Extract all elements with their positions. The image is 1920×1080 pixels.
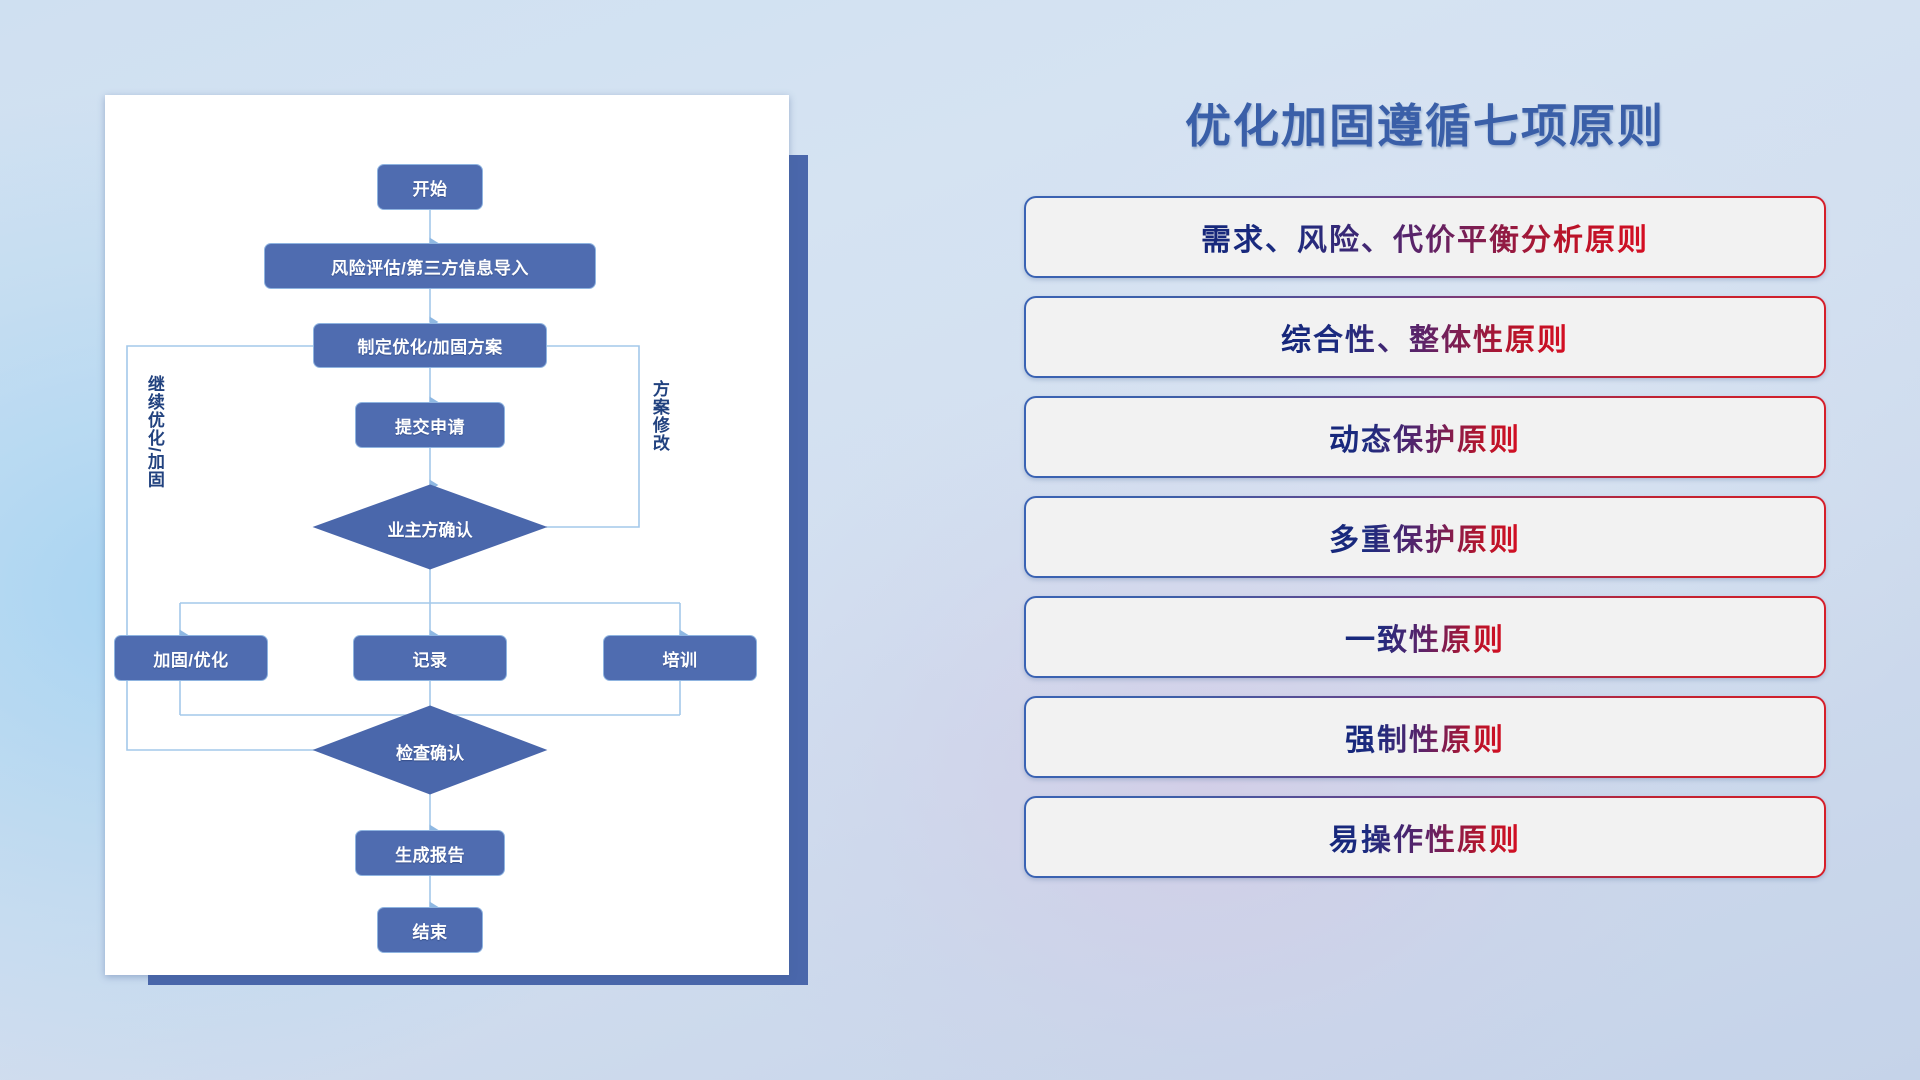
- node-submit-application[interactable]: 提交申请: [355, 402, 505, 448]
- node-risk-assessment[interactable]: 风险评估/第三方信息导入: [264, 243, 596, 289]
- principle-list: 需求、风险、代价平衡分析原则 综合性、整体性原则 动态保护原则 多重保护原则 一…: [1000, 196, 1850, 878]
- flowchart-card: 开始 风险评估/第三方信息导入 制定优化/加固方案 提交申请 业主方确认 加固/…: [105, 95, 789, 975]
- node-start[interactable]: 开始: [377, 164, 483, 210]
- node-make-plan-label: 制定优化/加固方案: [357, 333, 502, 358]
- node-training-label: 培训: [663, 646, 698, 671]
- principle-item-4-label: 多重保护原则: [1329, 515, 1521, 559]
- principle-item-2-label: 综合性、整体性原则: [1281, 315, 1569, 359]
- principle-item-4-inner: 多重保护原则: [1026, 498, 1824, 576]
- principle-item-7-label: 易操作性原则: [1329, 815, 1521, 859]
- node-record[interactable]: 记录: [353, 635, 507, 681]
- principle-item-2[interactable]: 综合性、整体性原则: [1024, 296, 1826, 378]
- principle-item-1-inner: 需求、风险、代价平衡分析原则: [1026, 198, 1824, 276]
- node-start-label: 开始: [413, 175, 448, 200]
- principle-item-6-inner: 强制性原则: [1026, 698, 1824, 776]
- principle-item-3[interactable]: 动态保护原则: [1024, 396, 1826, 478]
- node-risk-assessment-label: 风险评估/第三方信息导入: [331, 254, 529, 279]
- node-training[interactable]: 培训: [603, 635, 757, 681]
- node-generate-report-label: 生成报告: [395, 841, 465, 866]
- principle-item-5-label: 一致性原则: [1345, 615, 1505, 659]
- principle-item-3-inner: 动态保护原则: [1026, 398, 1824, 476]
- node-generate-report[interactable]: 生成报告: [355, 830, 505, 876]
- node-reinforce-optimize-label: 加固/优化: [153, 646, 228, 671]
- node-record-label: 记录: [413, 646, 448, 671]
- page-title: 优化加固遵循七项原则: [1000, 90, 1850, 156]
- principles-panel: 优化加固遵循七项原则 需求、风险、代价平衡分析原则 综合性、整体性原则 动态保护…: [1000, 90, 1850, 1020]
- edge-label-continue-optimize: 继续优化/加固: [145, 375, 163, 489]
- principle-item-6-label: 强制性原则: [1345, 715, 1505, 759]
- node-owner-confirm-label: 业主方确认: [330, 516, 530, 541]
- principle-item-1-label: 需求、风险、代价平衡分析原则: [1201, 215, 1649, 259]
- principle-item-4[interactable]: 多重保护原则: [1024, 496, 1826, 578]
- principle-item-1[interactable]: 需求、风险、代价平衡分析原则: [1024, 196, 1826, 278]
- edge-label-plan-revision: 方案修改: [650, 380, 668, 452]
- principle-item-5[interactable]: 一致性原则: [1024, 596, 1826, 678]
- node-end[interactable]: 结束: [377, 907, 483, 953]
- principle-item-6[interactable]: 强制性原则: [1024, 696, 1826, 778]
- node-end-label: 结束: [413, 918, 448, 943]
- principle-item-3-label: 动态保护原则: [1329, 415, 1521, 459]
- principle-item-7-inner: 易操作性原则: [1026, 798, 1824, 876]
- node-make-plan[interactable]: 制定优化/加固方案: [313, 323, 547, 368]
- principle-item-2-inner: 综合性、整体性原则: [1026, 298, 1824, 376]
- node-reinforce-optimize[interactable]: 加固/优化: [114, 635, 268, 681]
- principle-item-7[interactable]: 易操作性原则: [1024, 796, 1826, 878]
- principle-item-5-inner: 一致性原则: [1026, 598, 1824, 676]
- node-submit-application-label: 提交申请: [395, 413, 465, 438]
- node-check-confirm-label: 检查确认: [330, 739, 530, 764]
